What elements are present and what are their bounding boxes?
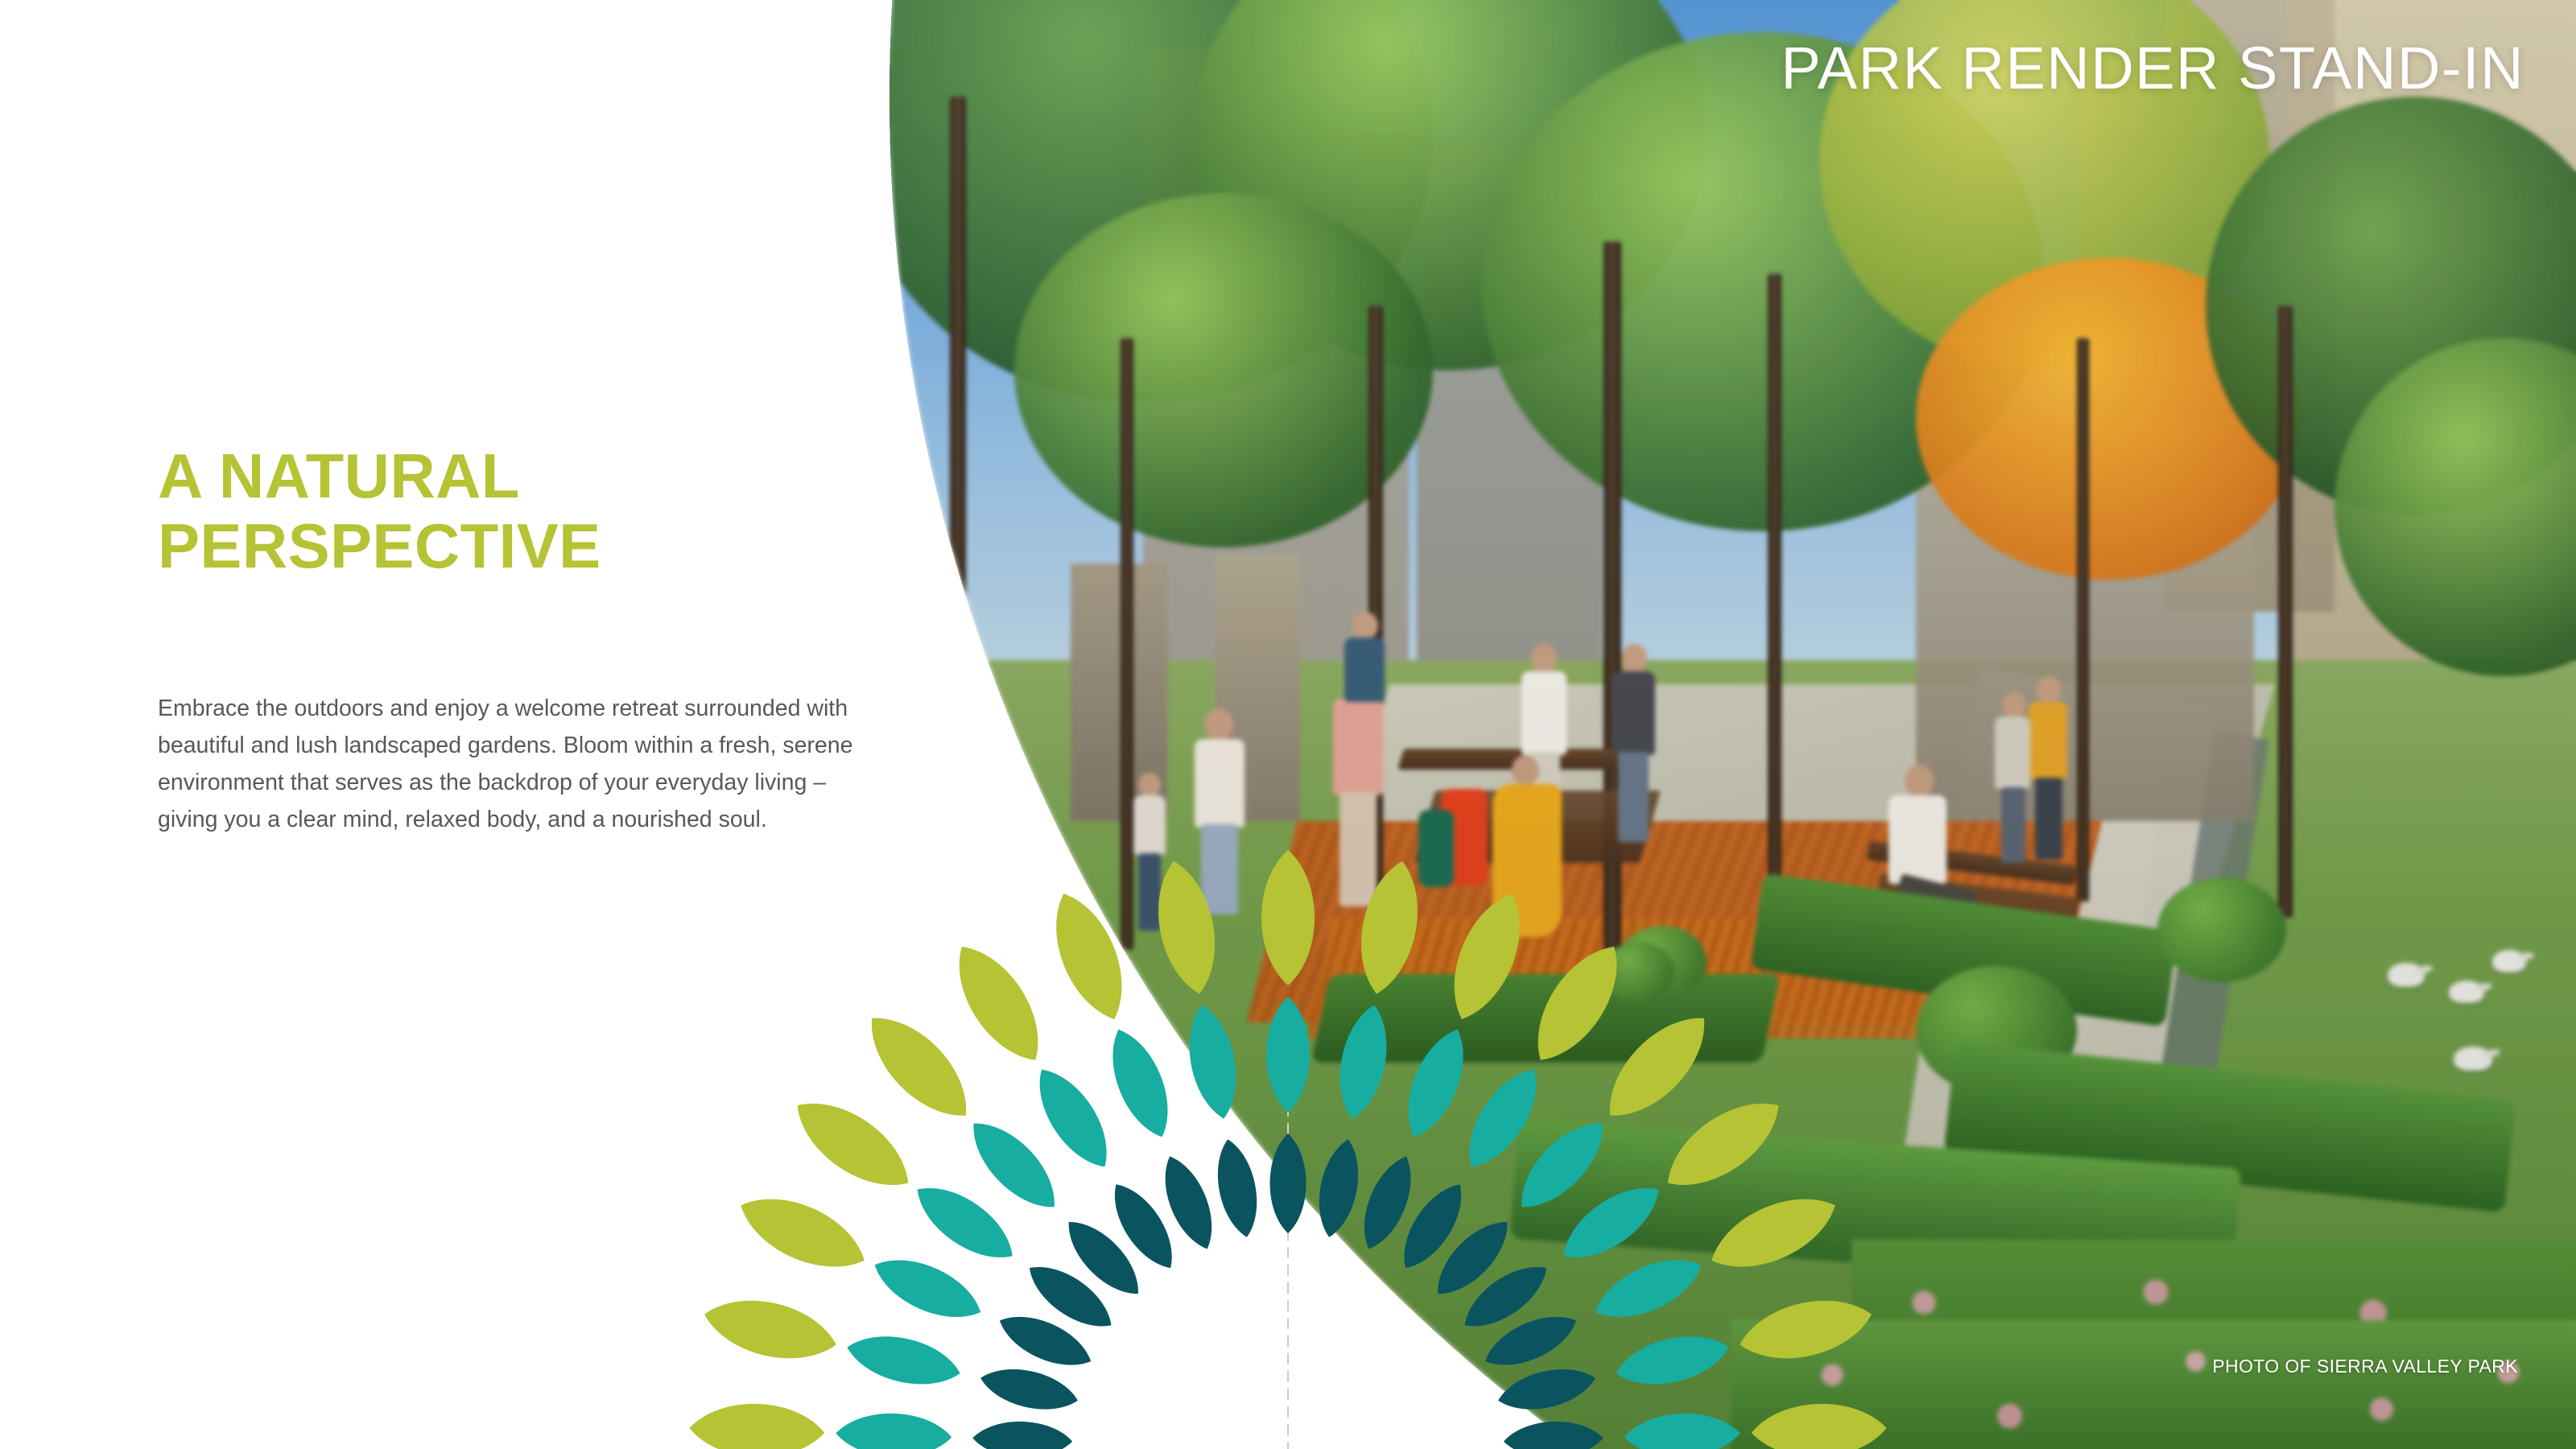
hedge-1: [1311, 974, 1780, 1063]
person-standing-2: [1602, 644, 1666, 845]
tree-trunk-4: [1768, 274, 1781, 966]
shrub-4: [1602, 942, 1674, 1002]
tree-trunk-7: [950, 97, 966, 676]
center-fold-line: [1287, 1034, 1289, 1449]
person-child-1: [1125, 773, 1174, 934]
tree-trunk-6: [2278, 306, 2293, 918]
person-walking-1: [1183, 708, 1256, 918]
pigeon-3: [2492, 950, 2526, 972]
photo-overlay-title: PARK RENDER STAND-IN: [1781, 39, 2524, 98]
page-headline: A NATURAL PERSPECTIVE: [158, 441, 882, 582]
body-paragraph: Embrace the outdoors and enjoy a welcome…: [158, 690, 882, 839]
brochure-spread: PARK RENDER STAND-IN PHOTO OF SIERRA VAL…: [0, 0, 2576, 1449]
photo-credit-caption: PHOTO OF SIERRA VALLEY PARK: [2212, 1356, 2518, 1377]
pigeon-4: [2454, 1046, 2492, 1071]
pigeon-2: [2449, 980, 2484, 1003]
headline-line-1: A NATURAL: [158, 441, 882, 511]
pigeon-1: [2388, 963, 2425, 987]
person-child-stroller: [1441, 773, 1497, 926]
flower-bed-2: [1731, 1320, 2576, 1449]
person-seated-yellow-dress: [1488, 755, 1584, 940]
headline-line-2: PERSPECTIVE: [158, 511, 882, 581]
person-standing-4: [1988, 692, 2038, 865]
shrub-1: [2157, 877, 2286, 982]
person-child-shoulders: [1335, 612, 1396, 708]
tree-trunk-5: [2077, 338, 2089, 902]
